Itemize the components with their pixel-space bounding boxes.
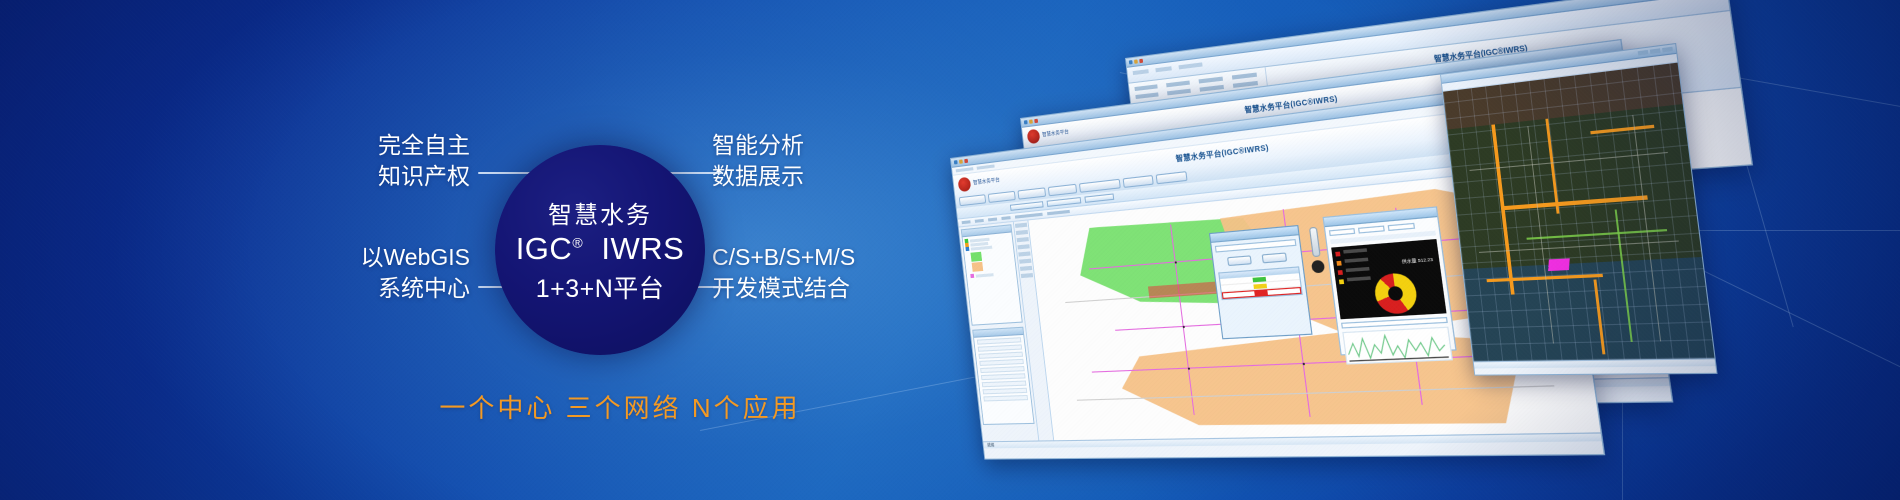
leak-analysis-dialog[interactable] bbox=[1209, 225, 1313, 339]
value-proposition-diagram: 完全自主 知识产权 以WebGIS 系统中心 智能分析 数据展示 C/S+B/S… bbox=[300, 120, 940, 390]
feature-bottom-left-line1: 以WebGIS bbox=[361, 244, 471, 270]
hero-banner: 完全自主 知识产权 以WebGIS 系统中心 智能分析 数据展示 C/S+B/S… bbox=[0, 0, 1900, 500]
subnav-item-network[interactable] bbox=[1084, 193, 1114, 202]
feature-top-left-line1: 完全自主 bbox=[378, 132, 470, 158]
brand-name-igc: IGC bbox=[516, 231, 573, 266]
brand-circle-line1: 智慧水务 bbox=[548, 195, 652, 230]
nav-item-map[interactable] bbox=[959, 194, 986, 206]
dialog-result-table[interactable] bbox=[1218, 266, 1303, 300]
nav-item-report[interactable] bbox=[1017, 187, 1046, 199]
window-front-brand-text: 智慧水务平台 bbox=[973, 176, 1000, 186]
feature-top-right-line1: 智能分析 bbox=[712, 132, 804, 158]
registered-icon: ® bbox=[572, 235, 583, 251]
nav-item-settings[interactable] bbox=[1156, 171, 1188, 184]
brand-name-iwrs: IWRS bbox=[601, 231, 684, 266]
brand-circle-line2: IGC® IWRS bbox=[516, 233, 685, 266]
feature-bottom-left: 以WebGIS 系统中心 bbox=[300, 242, 470, 304]
feature-top-right-line2: 数据展示 bbox=[712, 161, 804, 192]
donut-chart-widget: 供水量 512.23 bbox=[1331, 239, 1446, 319]
satellite-map-canvas[interactable] bbox=[1443, 63, 1715, 362]
nav-item-sysmgmt[interactable] bbox=[1123, 175, 1154, 188]
donut-value-label: 供水量 512.23 bbox=[1401, 256, 1433, 265]
logo-icon bbox=[958, 177, 972, 192]
feature-top-left: 完全自主 知识产权 bbox=[300, 130, 470, 192]
feature-bottom-right: C/S+B/S+M/S 开发模式结合 bbox=[712, 242, 855, 304]
map-highlight-area bbox=[1548, 258, 1570, 271]
feature-top-left-line2: 知识产权 bbox=[300, 161, 470, 192]
feature-top-right: 智能分析 数据展示 bbox=[712, 130, 804, 192]
brand-circle-line3: 1+3+N平台 bbox=[536, 269, 665, 305]
subnav-item-balance[interactable] bbox=[1010, 201, 1044, 211]
brand-circle: 智慧水务 IGC® IWRS 1+3+N平台 bbox=[495, 145, 705, 355]
nav-item-model[interactable] bbox=[1048, 184, 1077, 197]
subnav-item-pressure[interactable] bbox=[1047, 197, 1082, 207]
feature-bottom-right-line2: 开发模式结合 bbox=[712, 273, 855, 304]
attribute-panel[interactable] bbox=[972, 327, 1034, 425]
mini-line-chart bbox=[1342, 327, 1453, 365]
window-right-map[interactable] bbox=[1440, 43, 1718, 376]
feature-bottom-left-line2: 系统中心 bbox=[300, 273, 470, 304]
tagline: 一个中心 三个网络 N个应用 bbox=[300, 388, 940, 425]
dialog-query-button[interactable] bbox=[1227, 255, 1252, 266]
statusbar-text: 就绪 bbox=[987, 442, 995, 448]
layer-control-panel[interactable] bbox=[961, 224, 1023, 325]
feature-bottom-right-line1: C/S+B/S+M/S bbox=[712, 244, 855, 270]
nav-item-data[interactable] bbox=[988, 191, 1016, 203]
window-mid-brand-text: 智慧水务平台 bbox=[1042, 128, 1069, 138]
logo-icon bbox=[1027, 129, 1041, 144]
water-balance-panel[interactable]: 供水量 512.23 bbox=[1323, 206, 1457, 355]
dialog-clear-button[interactable] bbox=[1262, 252, 1287, 263]
screenshot-stack: 智慧水务平台(IGC®IWRS) bbox=[960, 40, 1860, 460]
